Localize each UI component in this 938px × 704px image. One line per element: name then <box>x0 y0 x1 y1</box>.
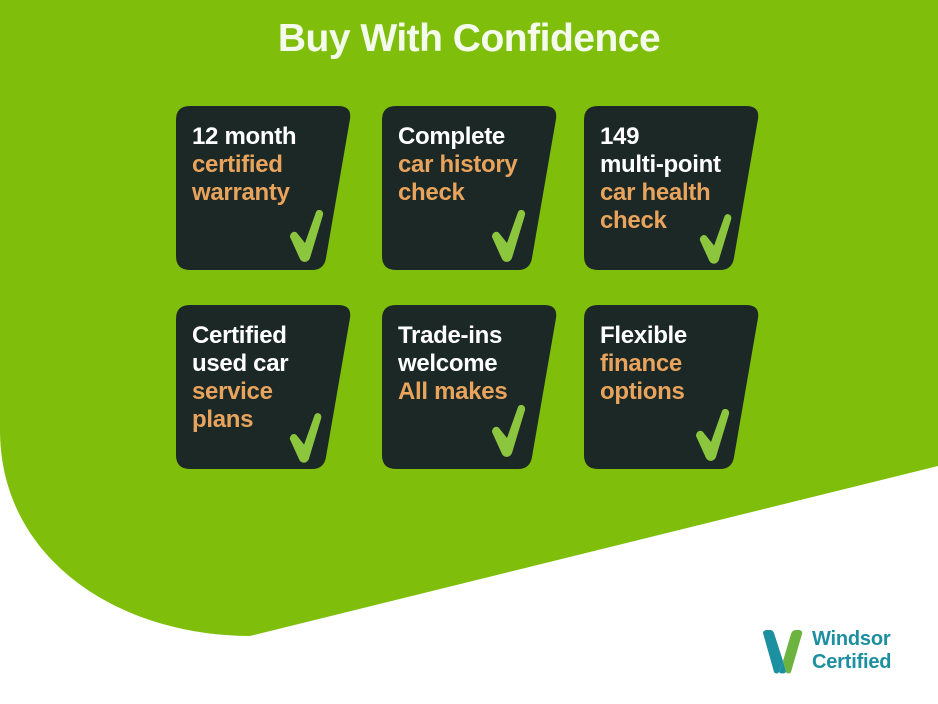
card-line-white-1: welcome <box>398 350 548 378</box>
check-icon <box>488 405 530 457</box>
card-line-orange-1: check <box>398 179 548 207</box>
card-line-white-0: Trade-ins <box>398 322 548 350</box>
card-line-orange-0: All makes <box>398 378 548 406</box>
promotional-banner: Buy With Confidence 12 month certified w… <box>0 0 938 704</box>
benefit-card-trade-ins-welcome-all-makes[interactable]: Trade-ins welcome All makes <box>382 305 558 469</box>
card-text: 12 month certified warranty <box>192 123 342 207</box>
benefit-card-12-month-certified-warranty[interactable]: 12 month certified warranty <box>176 106 352 270</box>
check-icon <box>696 214 736 264</box>
logo-line-2: Certified <box>812 651 891 674</box>
card-line-orange-0: car health <box>600 179 750 207</box>
page-title: Buy With Confidence <box>0 18 938 61</box>
check-icon <box>488 210 530 262</box>
card-line-orange-0: car history <box>398 151 548 179</box>
card-line-white-0: Certified <box>192 322 342 350</box>
windsor-certified-logo[interactable]: Windsor Certified <box>760 626 926 682</box>
card-line-white-1: multi-point <box>600 151 750 179</box>
check-icon <box>286 413 326 463</box>
card-text: Trade-ins welcome All makes <box>398 322 548 406</box>
logo-wordmark: Windsor Certified <box>812 628 891 674</box>
card-line-orange-0: service <box>192 378 342 406</box>
card-line-white-0: 12 month <box>192 123 342 151</box>
check-icon <box>286 210 328 262</box>
card-line-orange-0: finance <box>600 350 750 378</box>
windsor-w-icon <box>760 630 806 674</box>
card-line-white-0: 149 <box>600 123 750 151</box>
card-line-white-0: Flexible <box>600 322 750 350</box>
card-line-orange-1: options <box>600 378 750 406</box>
logo-line-1: Windsor <box>812 628 891 651</box>
benefit-card-149-multi-point-car-health-check[interactable]: 149 multi-point car health check <box>584 106 760 270</box>
check-icon <box>692 409 734 461</box>
card-line-orange-1: warranty <box>192 179 342 207</box>
benefit-card-certified-used-car-service-plans[interactable]: Certified used car service plans <box>176 305 352 469</box>
card-line-white-1: used car <box>192 350 342 378</box>
benefit-card-flexible-finance-options[interactable]: Flexible finance options <box>584 305 760 469</box>
card-text: Complete car history check <box>398 123 548 207</box>
card-line-white-0: Complete <box>398 123 548 151</box>
benefit-card-complete-car-history-check[interactable]: Complete car history check <box>382 106 558 270</box>
card-line-orange-0: certified <box>192 151 342 179</box>
card-text: Flexible finance options <box>600 322 750 406</box>
